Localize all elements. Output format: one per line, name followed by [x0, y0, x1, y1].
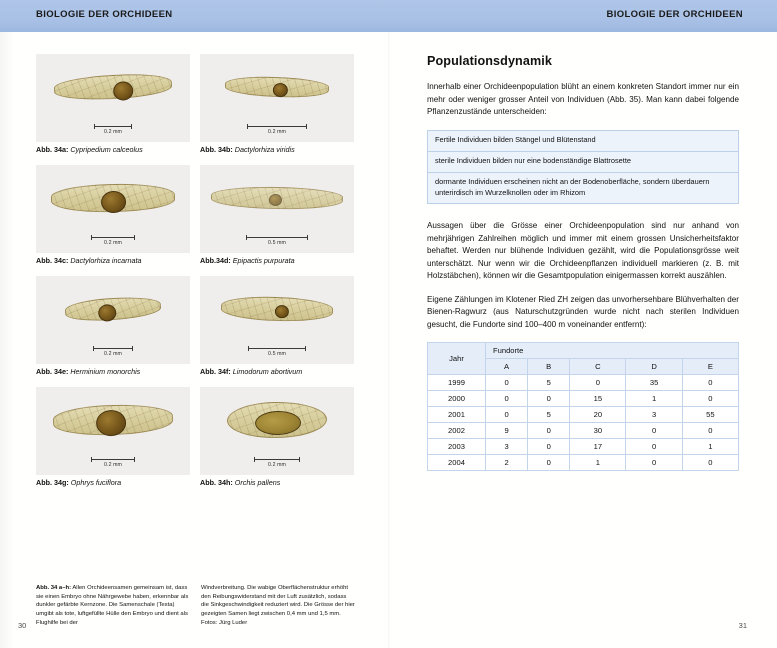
- scale-bar-34g: 0.2 mm: [91, 457, 135, 469]
- cell-year: 2002: [428, 423, 486, 439]
- seed-illustration: [227, 402, 327, 438]
- cell-value: 0: [682, 375, 738, 391]
- cell-value: 0: [486, 407, 528, 423]
- cell-value: 35: [626, 375, 682, 391]
- figure-species: Epipactis purpurata: [233, 256, 295, 265]
- scale-bar-label: 0.2 mm: [247, 129, 307, 135]
- figure-species: Dactylorhiza incarnata: [70, 256, 141, 265]
- cell-year: 1999: [428, 375, 486, 391]
- figure-species: Dactylorhiza viridis: [235, 145, 295, 154]
- figure-caption-34h: Abb. 34h: Orchis pallens: [200, 478, 354, 487]
- figure-species: Cypripedium calceolus: [70, 145, 142, 154]
- cell-value: 5: [528, 407, 570, 423]
- figure-footnote: Abb. 34 a–h: Allen Orchideensamen gemein…: [36, 584, 356, 628]
- figure-label: Abb. 34h:: [200, 478, 233, 487]
- micrograph-34e: 0.2 mm: [36, 276, 190, 364]
- scale-bar-34a: 0.2 mm: [94, 124, 132, 136]
- table-header-site-c: C: [570, 359, 626, 375]
- cell-value: 1: [570, 455, 626, 471]
- scale-bar-label: 0.2 mm: [93, 351, 133, 357]
- scale-bar-34c: 0.2 mm: [91, 235, 135, 247]
- figure-cell: 0.2 mm Abb. 34e: Herminium monorchis: [36, 276, 190, 376]
- figure-cell: 0.2 mm Abb. 34g: Ophrys fuciflora: [36, 387, 190, 487]
- figure-species: Herminium monorchis: [70, 367, 140, 376]
- figure-label: Abb. 34c:: [36, 256, 68, 265]
- counts-table-head: Jahr Fundorte A B C D E: [428, 343, 739, 375]
- footnote-column-1: Abb. 34 a–h: Allen Orchideensamen gemein…: [36, 584, 190, 628]
- micrograph-34f: 0.5 mm: [200, 276, 354, 364]
- figure-caption-34b: Abb. 34b: Dactylorhiza viridis: [200, 145, 354, 154]
- table-header-row-1: Jahr Fundorte: [428, 343, 739, 359]
- figure-caption-34e: Abb. 34e: Herminium monorchis: [36, 367, 190, 376]
- figure-cell: 0.2 mm Abb. 34c: Dactylorhiza incarnata: [36, 165, 190, 265]
- page-number-left: 30: [18, 621, 26, 630]
- cell-value: 0: [682, 391, 738, 407]
- figure-row: 0.2 mm Abb. 34a: Cypripedium calceolus: [36, 54, 354, 154]
- cell-value: 20: [570, 407, 626, 423]
- cell-value: 0: [570, 375, 626, 391]
- cell-year: 2000: [428, 391, 486, 407]
- figure-species: Orchis pallens: [235, 478, 281, 487]
- cell-value: 0: [528, 455, 570, 471]
- seed-illustration: [54, 75, 172, 99]
- seed-illustration: [65, 298, 161, 320]
- footnote-column-2: Windverbreitung. Die wabige Oberflächens…: [201, 584, 355, 628]
- figure-species: Limodorum abortivum: [233, 367, 303, 376]
- seed-illustration: [225, 77, 329, 97]
- scale-bar-label: 0.5 mm: [246, 240, 308, 246]
- cell-value: 0: [486, 375, 528, 391]
- micrograph-34c: 0.2 mm: [36, 165, 190, 253]
- figure-caption-34d: Abb.34d: Epipactis purpurata: [200, 256, 354, 265]
- section-heading: Populationsdynamik: [427, 54, 739, 68]
- table-row: 2002 9 0 30 0 0: [428, 423, 739, 439]
- figure-caption-34c: Abb. 34c: Dactylorhiza incarnata: [36, 256, 190, 265]
- state-row-sterile: sterile Individuen bilden nur eine boden…: [428, 152, 738, 173]
- figure-row: 0.2 mm Abb. 34c: Dactylorhiza incarnata: [36, 165, 354, 265]
- scale-bar-label: 0.2 mm: [91, 240, 135, 246]
- footnote-text-1: Allen Orchideensamen gemeinsam ist, dass…: [36, 585, 188, 626]
- table-row: 2003 3 0 17 0 1: [428, 439, 739, 455]
- figure-row: 0.2 mm Abb. 34g: Ophrys fuciflora: [36, 387, 354, 487]
- cell-value: 55: [682, 407, 738, 423]
- cell-value: 9: [486, 423, 528, 439]
- figure-cell: 0.2 mm Abb. 34b: Dactylorhiza viridis: [200, 54, 354, 154]
- intro-paragraph: Innerhalb einer Orchideenpopulation blüh…: [427, 81, 739, 119]
- figure-cell: 0.2 mm Abb. 34h: Orchis pallens: [200, 387, 354, 487]
- cell-value: 0: [682, 423, 738, 439]
- table-row: 1999 0 5 0 35 0: [428, 375, 739, 391]
- figure-cell: 0.5 mm Abb. 34f: Limodorum abortivum: [200, 276, 354, 376]
- figure-label: Abb. 34e:: [36, 367, 68, 376]
- cell-value: 30: [570, 423, 626, 439]
- seed-illustration: [53, 405, 173, 435]
- footnote-lead: Abb. 34 a–h:: [36, 585, 71, 591]
- figure-label: Abb. 34f:: [200, 367, 231, 376]
- table-header-site-a: A: [486, 359, 528, 375]
- scale-bar-34b: 0.2 mm: [247, 124, 307, 136]
- figure-caption-34f: Abb. 34f: Limodorum abortivum: [200, 367, 354, 376]
- book-spread: BIOLOGIE DER ORCHIDEEN BIOLOGIE DER ORCH…: [0, 0, 777, 648]
- cell-year: 2003: [428, 439, 486, 455]
- cell-value: 15: [570, 391, 626, 407]
- cell-value: 0: [626, 423, 682, 439]
- scale-bar-label: 0.2 mm: [94, 129, 132, 135]
- header-band: BIOLOGIE DER ORCHIDEEN BIOLOGIE DER ORCH…: [0, 0, 777, 32]
- seed-illustration: [221, 297, 333, 321]
- left-page: 0.2 mm Abb. 34a: Cypripedium calceolus: [0, 32, 388, 648]
- figure-cell: 0.5 mm Abb.34d: Epipactis purpurata: [200, 165, 354, 265]
- cell-value: 17: [570, 439, 626, 455]
- state-row-dormant: dormante Individuen erscheinen nicht an …: [428, 173, 738, 204]
- body-paragraph-1: Aussagen über die Grösse einer Orchideen…: [427, 220, 739, 283]
- plant-states-box: Fertile Individuen bilden Stängel und Bl…: [427, 130, 739, 205]
- page-number-right: 31: [739, 621, 747, 630]
- state-row-fertile: Fertile Individuen bilden Stängel und Bl…: [428, 131, 738, 152]
- scale-bar-label: 0.2 mm: [254, 462, 300, 468]
- counts-table: Jahr Fundorte A B C D E 1999: [427, 342, 739, 471]
- figure-grid: 0.2 mm Abb. 34a: Cypripedium calceolus: [36, 54, 354, 498]
- cell-value: 0: [528, 423, 570, 439]
- micrograph-34g: 0.2 mm: [36, 387, 190, 475]
- scale-bar-label: 0.5 mm: [248, 351, 306, 357]
- scale-bar-34e: 0.2 mm: [93, 346, 133, 358]
- cell-value: 1: [682, 439, 738, 455]
- table-header-site-e: E: [682, 359, 738, 375]
- body-paragraph-2: Eigene Zählungen im Klotener Ried ZH zei…: [427, 294, 739, 332]
- figure-label: Abb. 34g:: [36, 478, 69, 487]
- cell-value: 5: [528, 375, 570, 391]
- cell-value: 0: [626, 439, 682, 455]
- cell-value: 1: [626, 391, 682, 407]
- cell-value: 0: [626, 455, 682, 471]
- figure-label: Abb. 34b:: [200, 145, 233, 154]
- cell-year: 2004: [428, 455, 486, 471]
- scale-bar-label: 0.2 mm: [91, 462, 135, 468]
- running-head-left: BIOLOGIE DER ORCHIDEEN: [36, 9, 173, 20]
- micrograph-34d: 0.5 mm: [200, 165, 354, 253]
- table-header-fundorte: Fundorte: [486, 343, 739, 359]
- cell-value: 2: [486, 455, 528, 471]
- cell-value: 0: [682, 455, 738, 471]
- table-row: 2000 0 0 15 1 0: [428, 391, 739, 407]
- cell-value: 3: [626, 407, 682, 423]
- cell-value: 0: [528, 391, 570, 407]
- scale-bar-34d: 0.5 mm: [246, 235, 308, 247]
- figure-label: Abb.34d:: [200, 256, 231, 265]
- table-header-site-b: B: [528, 359, 570, 375]
- figure-species: Ophrys fuciflora: [71, 478, 121, 487]
- figure-caption-34g: Abb. 34g: Ophrys fuciflora: [36, 478, 190, 487]
- cell-value: 0: [528, 439, 570, 455]
- scale-bar-34h: 0.2 mm: [254, 457, 300, 469]
- cell-value: 3: [486, 439, 528, 455]
- figure-label: Abb. 34a:: [36, 145, 68, 154]
- table-row: 2001 0 5 20 3 55: [428, 407, 739, 423]
- micrograph-34a: 0.2 mm: [36, 54, 190, 142]
- micrograph-34b: 0.2 mm: [200, 54, 354, 142]
- figure-cell: 0.2 mm Abb. 34a: Cypripedium calceolus: [36, 54, 190, 154]
- table-header-jahr: Jahr: [428, 343, 486, 375]
- right-page: Populationsdynamik Innerhalb einer Orchi…: [388, 32, 777, 648]
- cell-value: 0: [486, 391, 528, 407]
- table-header-site-d: D: [626, 359, 682, 375]
- micrograph-34h: 0.2 mm: [200, 387, 354, 475]
- seed-illustration: [211, 187, 343, 209]
- table-row: 2004 2 0 1 0 0: [428, 455, 739, 471]
- running-head-right: BIOLOGIE DER ORCHIDEEN: [607, 9, 744, 20]
- counts-table-body: 1999 0 5 0 35 0 2000 0 0 15 1: [428, 375, 739, 471]
- cell-year: 2001: [428, 407, 486, 423]
- seed-illustration: [51, 184, 175, 212]
- right-page-content: Populationsdynamik Innerhalb einer Orchi…: [427, 54, 739, 471]
- figure-row: 0.2 mm Abb. 34e: Herminium monorchis: [36, 276, 354, 376]
- scale-bar-34f: 0.5 mm: [248, 346, 306, 358]
- page-body: 0.2 mm Abb. 34a: Cypripedium calceolus: [0, 32, 777, 648]
- figure-caption-34a: Abb. 34a: Cypripedium calceolus: [36, 145, 190, 154]
